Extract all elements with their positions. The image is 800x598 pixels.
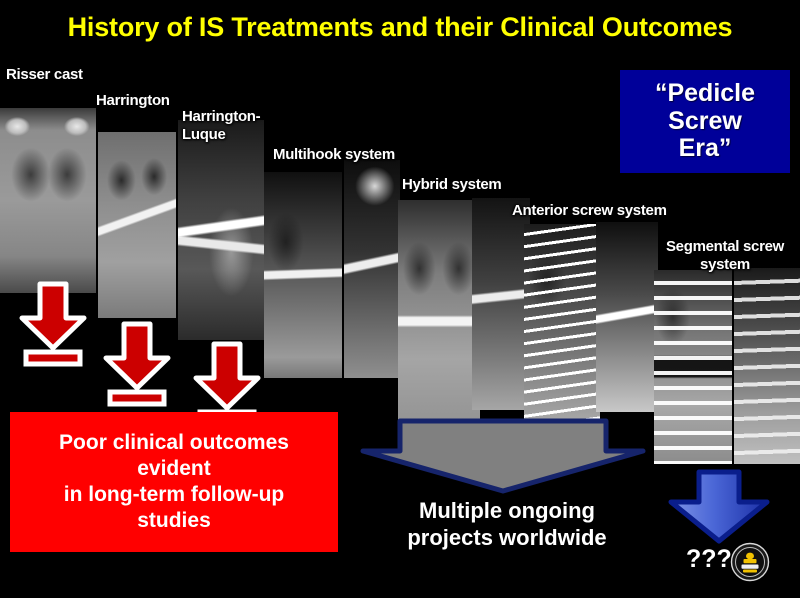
blue-down-arrow — [665, 468, 773, 546]
slide-title: History of IS Treatments and their Clini… — [60, 12, 740, 44]
label-anterior-screw-system: Anterior screw system — [512, 202, 712, 220]
pedicle-screw-era-box: “Pedicle Screw Era” — [620, 70, 790, 173]
xray-harrington-luque — [178, 120, 264, 340]
red-down-arrow-1 — [14, 278, 92, 370]
gray-down-arrow — [358, 418, 648, 494]
xray-hybrid-ap — [398, 200, 480, 445]
red-down-arrow-2 — [98, 318, 176, 410]
xray-harrington — [98, 132, 176, 318]
multiple-ongoing-projects-text: Multiple ongoing projects worldwide — [382, 498, 632, 552]
label-risser-cast: Risser cast — [6, 66, 136, 84]
presentation-slide: History of IS Treatments and their Clini… — [0, 0, 800, 598]
xray-hybrid-lateral — [472, 198, 530, 410]
xray-risser-cast — [0, 108, 96, 293]
xray-anterior-screw-ap — [524, 224, 600, 438]
poor-outcomes-box: Poor clinical outcomes evident in long-t… — [10, 412, 338, 552]
label-multihook-system: Multihook system — [273, 146, 438, 164]
xray-segmental-screw-lateral — [734, 268, 800, 464]
label-segmental-screw-system: Segmental screw system — [650, 238, 800, 275]
xray-multihook-lateral — [344, 160, 400, 378]
label-hybrid-system: Hybrid system — [402, 176, 552, 194]
xray-anterior-screw-lateral — [596, 222, 658, 412]
xray-multihook-ap — [264, 172, 342, 378]
xray-segmental-screw-ap — [654, 270, 732, 464]
society-seal-logo-icon — [730, 542, 770, 582]
label-harrington-luque: Harrington- Luque — [182, 108, 292, 145]
